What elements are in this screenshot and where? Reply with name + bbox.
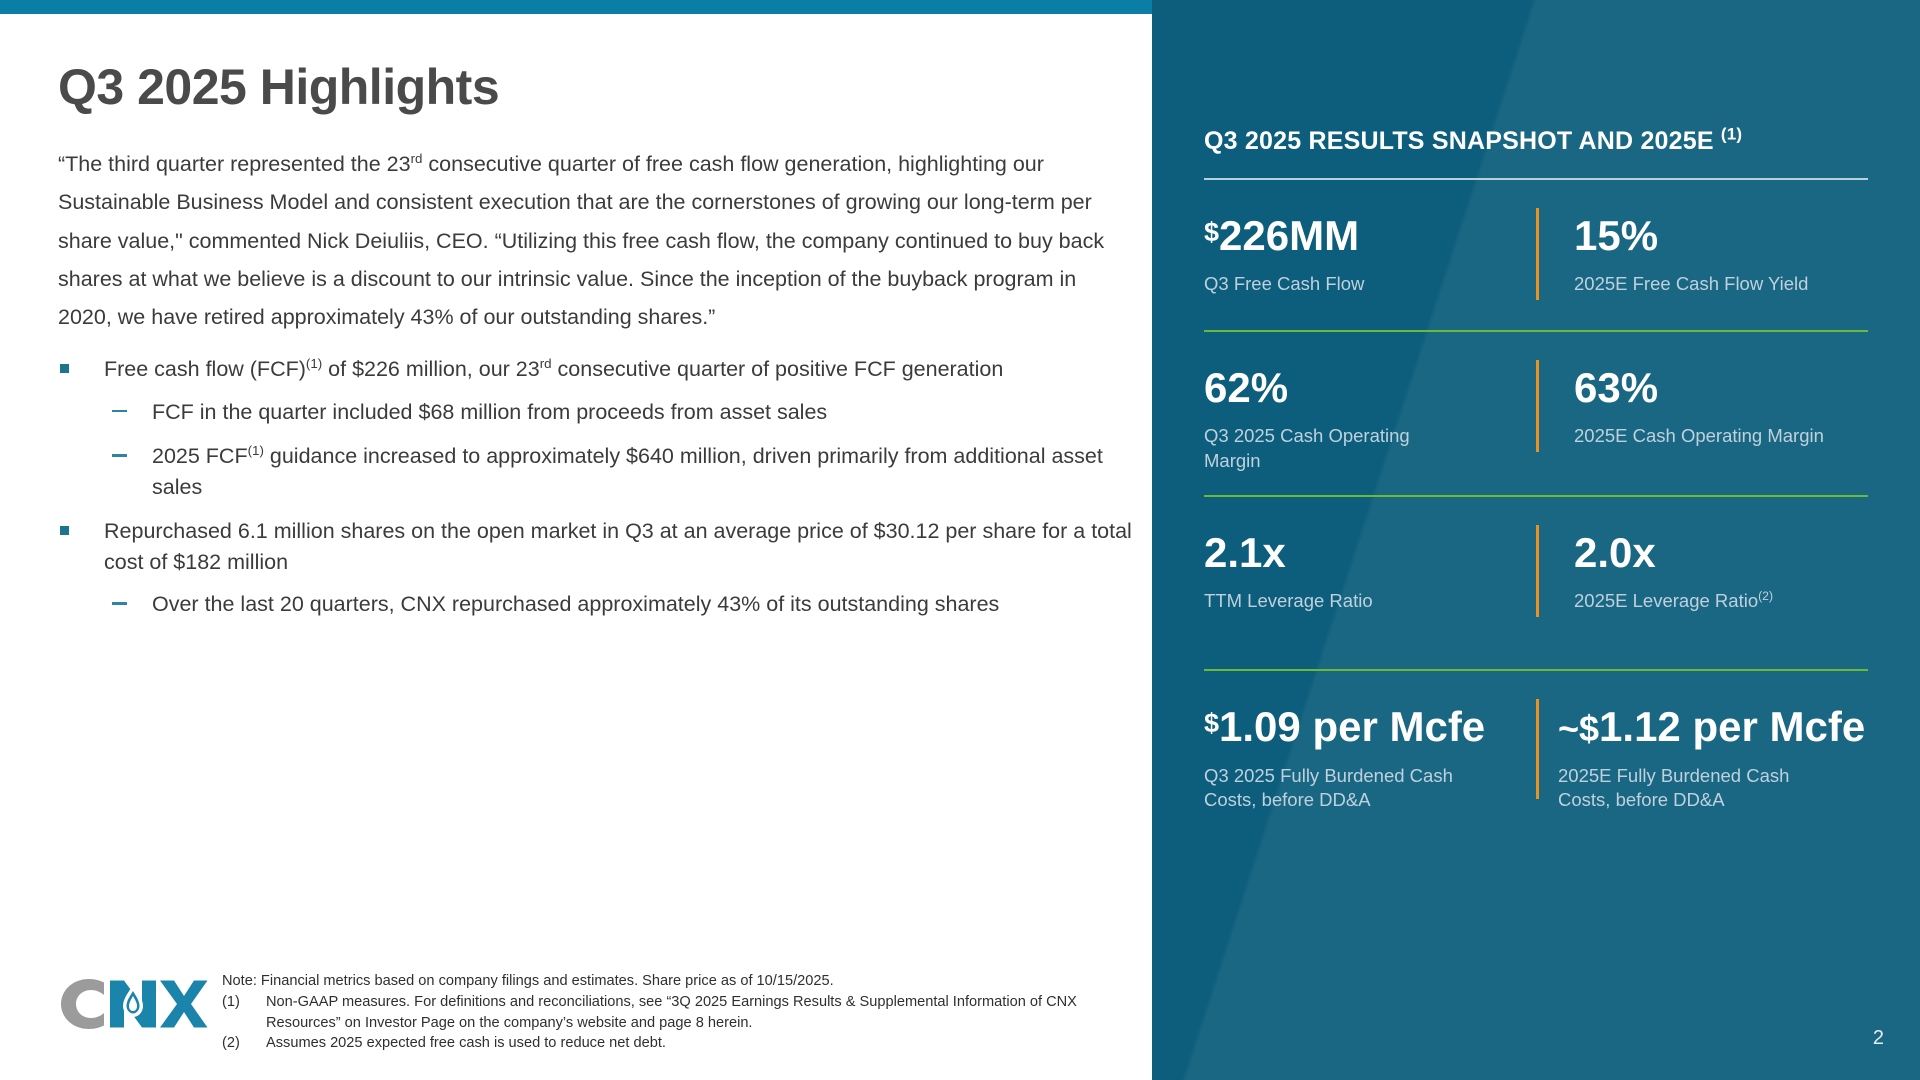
metric-label-text: 2025E Cash Operating Margin <box>1574 425 1824 446</box>
page-number: 2 <box>1873 1027 1884 1050</box>
quote-ordinal-sup: rd <box>411 151 423 166</box>
metric-cell: 2.1x TTM Leverage Ratio <box>1204 531 1536 614</box>
dash-bullet-icon <box>112 602 127 605</box>
metric-label: Q3 Free Cash Flow <box>1204 272 1508 296</box>
footnote-number: (2) <box>222 1033 266 1054</box>
footnote-text: Assumes 2025 expected free cash is used … <box>266 1033 1152 1054</box>
metric-value-number: 2.1x <box>1204 529 1286 576</box>
top-accent-bar <box>0 0 1152 14</box>
metric-row: 2.1x TTM Leverage Ratio 2.0x 2025E Lever… <box>1204 497 1868 670</box>
quote-part-2: consecutive quarter of free cash flow ge… <box>58 152 1104 329</box>
sub-bullet-text-a: 2025 FCF <box>152 444 248 468</box>
quote-part-1: “The third quarter represented the 23 <box>58 152 411 176</box>
sub-bullet-list: FCF in the quarter included $68 million … <box>104 397 1138 503</box>
bullet-text-a: Free cash flow (FCF) <box>104 357 306 381</box>
metric-cell: 63% 2025E Cash Operating Margin <box>1536 366 1868 473</box>
footnote-note: Note: Financial metrics based on company… <box>222 971 1152 992</box>
metric-label-text: Q3 2025 Cash Operating Margin <box>1204 425 1410 470</box>
metrics-grid: $226MM Q3 Free Cash Flow 15% 2025E Free … <box>1204 180 1868 813</box>
snapshot-title: Q3 2025 RESULTS SNAPSHOT AND 2025E (1) <box>1204 126 1868 156</box>
bullet-ordinal-sup: rd <box>540 356 552 371</box>
metric-value-prefix: ~$ <box>1558 708 1599 749</box>
results-snapshot-panel: Q3 2025 RESULTS SNAPSHOT AND 2025E (1) $… <box>1152 0 1920 1080</box>
sub-bullet-list: Over the last 20 quarters, CNX repurchas… <box>104 589 1138 620</box>
left-content-pane: Q3 2025 Highlights “The third quarter re… <box>0 14 1152 1080</box>
sub-bullet-text-a: Over the last 20 quarters, CNX repurchas… <box>152 592 999 616</box>
footnote-number: (1) <box>222 992 266 1033</box>
page-title: Q3 2025 Highlights <box>58 60 1094 115</box>
metric-value-number: 2.0x <box>1574 529 1656 576</box>
metric-label: Q3 2025 Fully Burdened Cash Costs, befor… <box>1204 764 1464 813</box>
metric-label: TTM Leverage Ratio <box>1204 589 1508 613</box>
sub-bullet-text-a: FCF in the quarter included $68 million … <box>152 400 827 424</box>
metric-label-text: 2025E Leverage Ratio <box>1574 590 1758 611</box>
metric-row: $1.09 per Mcfe Q3 2025 Fully Burdened Ca… <box>1204 671 1868 812</box>
cnx-logo-icon <box>58 973 208 1035</box>
metric-value-number: 1.12 per Mcfe <box>1599 703 1865 750</box>
metric-label: 2025E Cash Operating Margin <box>1574 424 1868 448</box>
metric-cell: 15% 2025E Free Cash Flow Yield <box>1536 214 1868 297</box>
slide-root: Q3 2025 Highlights “The third quarter re… <box>0 0 1920 1080</box>
square-bullet-icon <box>60 364 69 373</box>
metric-label-text: Q3 Free Cash Flow <box>1204 273 1364 294</box>
bullet-text-a: Repurchased 6.1 million shares on the op… <box>104 519 1132 574</box>
metric-value-number: 63% <box>1574 364 1658 411</box>
metric-value: 15% <box>1574 214 1868 258</box>
metric-label-text: Q3 2025 Fully Burdened Cash Costs, befor… <box>1204 765 1453 810</box>
dash-bullet-icon <box>112 454 127 457</box>
metric-value: 62% <box>1204 366 1508 410</box>
metric-label: 2025E Fully Burdened Cash Costs, before … <box>1558 764 1808 813</box>
metric-value-prefix: $ <box>1204 217 1219 247</box>
metric-cell: ~$1.12 per Mcfe 2025E Fully Burdened Cas… <box>1536 705 1868 812</box>
ceo-quote-paragraph: “The third quarter represented the 23rd … <box>58 145 1123 336</box>
metric-value-prefix: $ <box>1204 708 1219 738</box>
metric-value-number: 62% <box>1204 364 1288 411</box>
metric-value: $226MM <box>1204 214 1508 258</box>
footnote-text: Non-GAAP measures. For definitions and r… <box>266 992 1152 1033</box>
dash-bullet-icon <box>112 410 127 413</box>
sub-bullet-footnote-ref: (1) <box>248 443 264 458</box>
metric-value: 63% <box>1574 366 1868 410</box>
metric-label-text: 2025E Free Cash Flow Yield <box>1574 273 1808 294</box>
metric-value: ~$1.12 per Mcfe <box>1558 705 1868 749</box>
metric-row: 62% Q3 2025 Cash Operating Margin 63% 20… <box>1204 332 1868 495</box>
metric-label-footnote-ref: (2) <box>1758 589 1773 603</box>
bullet-item: Repurchased 6.1 million shares on the op… <box>58 516 1138 620</box>
metric-value: $1.09 per Mcfe <box>1204 705 1522 749</box>
footnotes: Note: Financial metrics based on company… <box>222 971 1152 1054</box>
footnote-row: (1) Non-GAAP measures. For definitions a… <box>222 992 1152 1033</box>
metric-label-text: 2025E Fully Burdened Cash Costs, before … <box>1558 765 1789 810</box>
snapshot-title-text: Q3 2025 RESULTS SNAPSHOT AND 2025E <box>1204 127 1714 155</box>
metric-label: 2025E Leverage Ratio(2) <box>1574 589 1868 613</box>
metric-cell: $1.09 per Mcfe Q3 2025 Fully Burdened Ca… <box>1204 705 1536 812</box>
highlights-bullet-list: Free cash flow (FCF)(1) of $226 million,… <box>58 354 1094 620</box>
snapshot-title-footnote-ref: (1) <box>1721 125 1742 144</box>
bullet-footnote-ref: (1) <box>306 356 322 371</box>
sub-bullet-text-b: guidance increased to approximately $640… <box>152 444 1103 499</box>
bullet-item: Free cash flow (FCF)(1) of $226 million,… <box>58 354 1138 502</box>
sub-bullet-item: Over the last 20 quarters, CNX repurchas… <box>104 589 1138 620</box>
square-bullet-icon <box>60 526 69 535</box>
footnote-row: (2) Assumes 2025 expected free cash is u… <box>222 1033 1152 1054</box>
metric-cell: 62% Q3 2025 Cash Operating Margin <box>1204 366 1536 473</box>
metric-label: 2025E Free Cash Flow Yield <box>1574 272 1868 296</box>
metric-value-number: 1.09 per Mcfe <box>1219 703 1485 750</box>
sub-bullet-item: 2025 FCF(1) guidance increased to approx… <box>104 441 1138 502</box>
metric-row: $226MM Q3 Free Cash Flow 15% 2025E Free … <box>1204 180 1868 331</box>
footer: Note: Financial metrics based on company… <box>58 971 1152 1054</box>
metric-value: 2.1x <box>1204 531 1508 575</box>
bullet-text-b: of $226 million, our 23 <box>322 357 540 381</box>
metric-value-number: 226MM <box>1219 212 1359 259</box>
metric-label-text: TTM Leverage Ratio <box>1204 590 1373 611</box>
metric-label: Q3 2025 Cash Operating Margin <box>1204 424 1454 473</box>
sub-bullet-item: FCF in the quarter included $68 million … <box>104 397 1138 428</box>
metric-value: 2.0x <box>1574 531 1868 575</box>
metric-cell: $226MM Q3 Free Cash Flow <box>1204 214 1536 297</box>
metric-cell: 2.0x 2025E Leverage Ratio(2) <box>1536 531 1868 614</box>
bullet-text-c: consecutive quarter of positive FCF gene… <box>552 357 1004 381</box>
metric-value-number: 15% <box>1574 212 1658 259</box>
